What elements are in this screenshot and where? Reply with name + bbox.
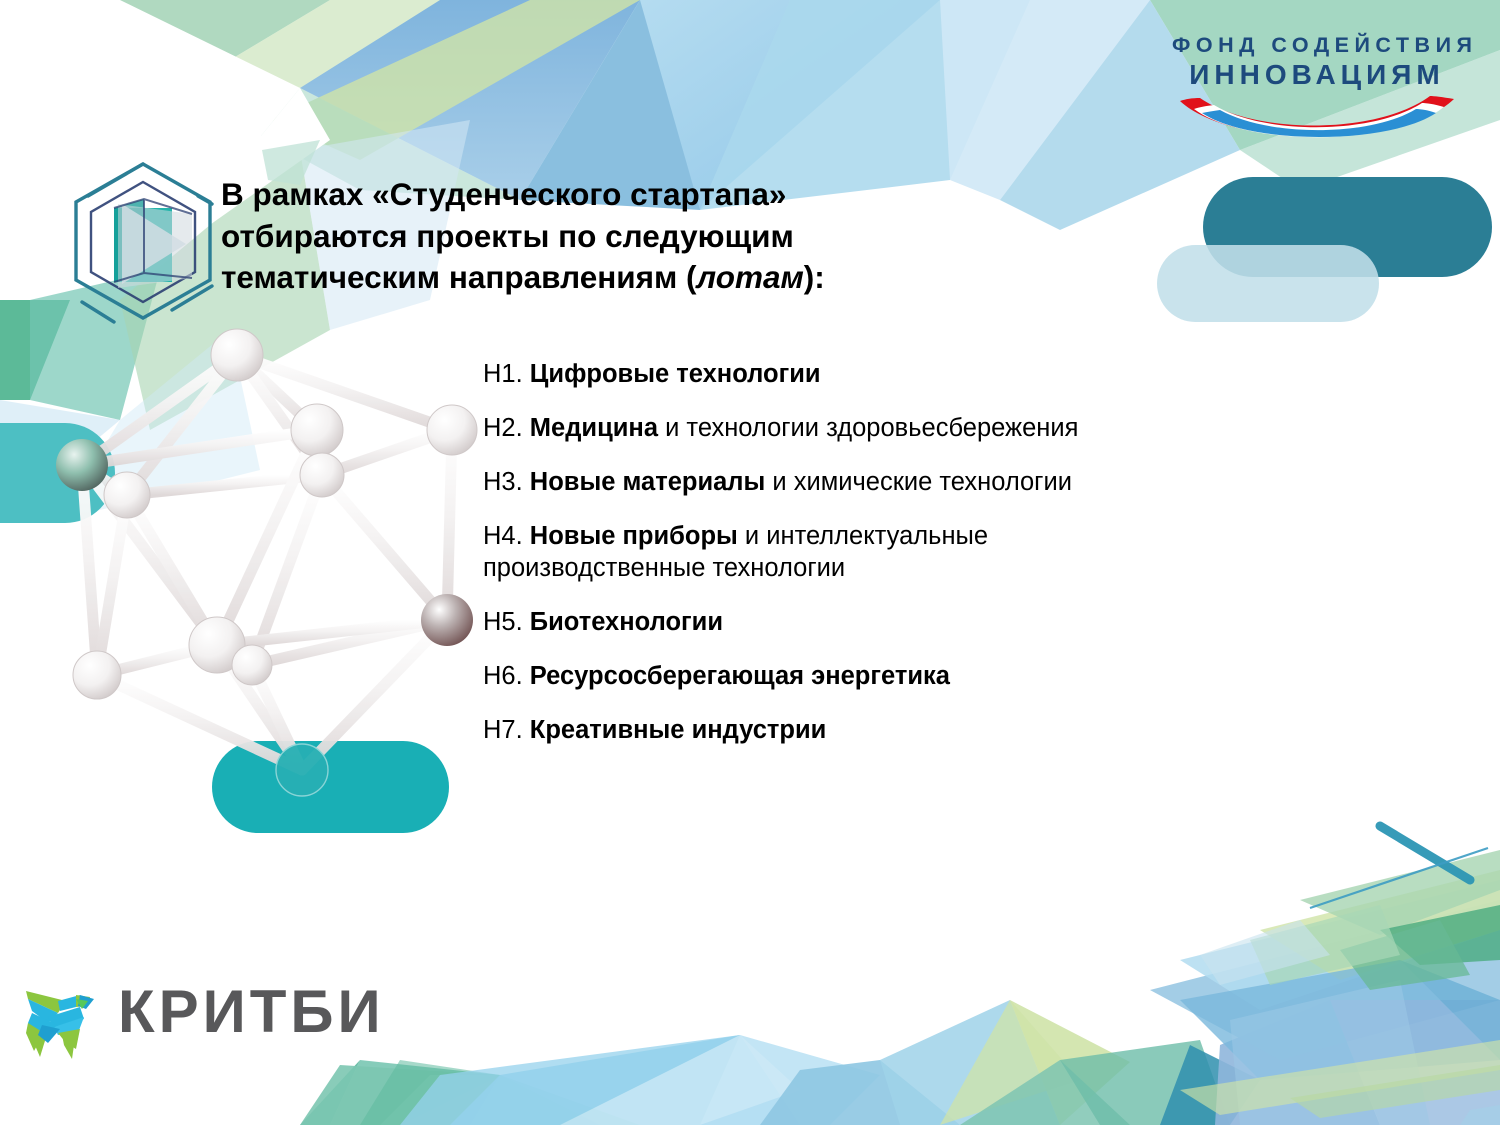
lot-number: H5. <box>483 608 523 636</box>
lots-list: H1. Цифровые технологии H2. Медицина и т… <box>483 358 1283 768</box>
title-line-1: В рамках «Студенческого стартапа» <box>221 176 786 212</box>
list-item[interactable]: H3. Новые материалы и химические техноло… <box>483 466 1283 498</box>
fond-logo-line2: ИННОВАЦИЯМ <box>1172 58 1462 91</box>
page-title: В рамках «Студенческого стартапа» отбира… <box>221 174 981 299</box>
fond-logo-swoosh-icon <box>1172 95 1462 147</box>
lot-bold-text: Медицина <box>530 414 658 442</box>
lot-bold-text: Креативные индустрии <box>530 716 827 744</box>
lot-bold-text: Новые приборы <box>530 522 738 550</box>
title-line-3: тематическим направлениям ( <box>221 259 697 295</box>
list-item[interactable]: H5. Биотехнологии <box>483 606 1283 638</box>
lot-number: H4. <box>483 522 523 550</box>
decorative-pill-light-blue <box>1157 245 1379 322</box>
list-item[interactable]: H4. Новые приборы и интеллектуальные про… <box>483 520 1163 584</box>
slide-canvas: ФОНД СОДЕЙСТВИЯ ИННОВАЦИЯМ <box>0 0 1500 1125</box>
lot-number: H6. <box>483 662 523 690</box>
molecule-polyhedron-graphic <box>52 320 502 820</box>
kritbi-logo: КРИТБИ <box>18 968 348 1068</box>
list-item[interactable]: H6. Ресурсосберегающая энергетика <box>483 660 1283 692</box>
title-italic-word: лотам <box>697 259 804 295</box>
lot-bold-text: Цифровые технологии <box>530 360 821 388</box>
list-item[interactable]: H1. Цифровые технологии <box>483 358 1283 390</box>
lot-number: H3. <box>483 468 523 496</box>
lot-bold-text: Биотехнологии <box>530 608 723 636</box>
list-item[interactable]: H7. Креативные индустрии <box>483 714 1283 746</box>
diagonal-accent-lines <box>1310 826 1488 908</box>
fond-sodeystviya-innovatsiyam-logo: ФОНД СОДЕЙСТВИЯ ИННОВАЦИЯМ <box>1172 32 1462 150</box>
lot-bold-text: Ресурсосберегающая энергетика <box>530 662 950 690</box>
lot-number: H7. <box>483 716 523 744</box>
lot-rest-text: и технологии здоровьесбережения <box>658 414 1078 442</box>
title-tail: ): <box>804 259 825 295</box>
list-item[interactable]: H2. Медицина и технологии здоровьесбереж… <box>483 412 1283 444</box>
lot-number: H2. <box>483 414 523 442</box>
kritbi-logo-text: КРИТБИ <box>118 975 385 1049</box>
kritbi-bird-icon <box>18 973 113 1063</box>
hexagon-logo-icon <box>52 152 234 338</box>
lot-number: H1. <box>483 360 523 388</box>
title-line-2: отбираются проекты по следующим <box>221 218 794 254</box>
fond-logo-line1: ФОНД СОДЕЙСТВИЯ <box>1172 32 1462 58</box>
lot-rest-text: и химические технологии <box>765 468 1072 496</box>
lot-bold-text: Новые материалы <box>530 468 766 496</box>
